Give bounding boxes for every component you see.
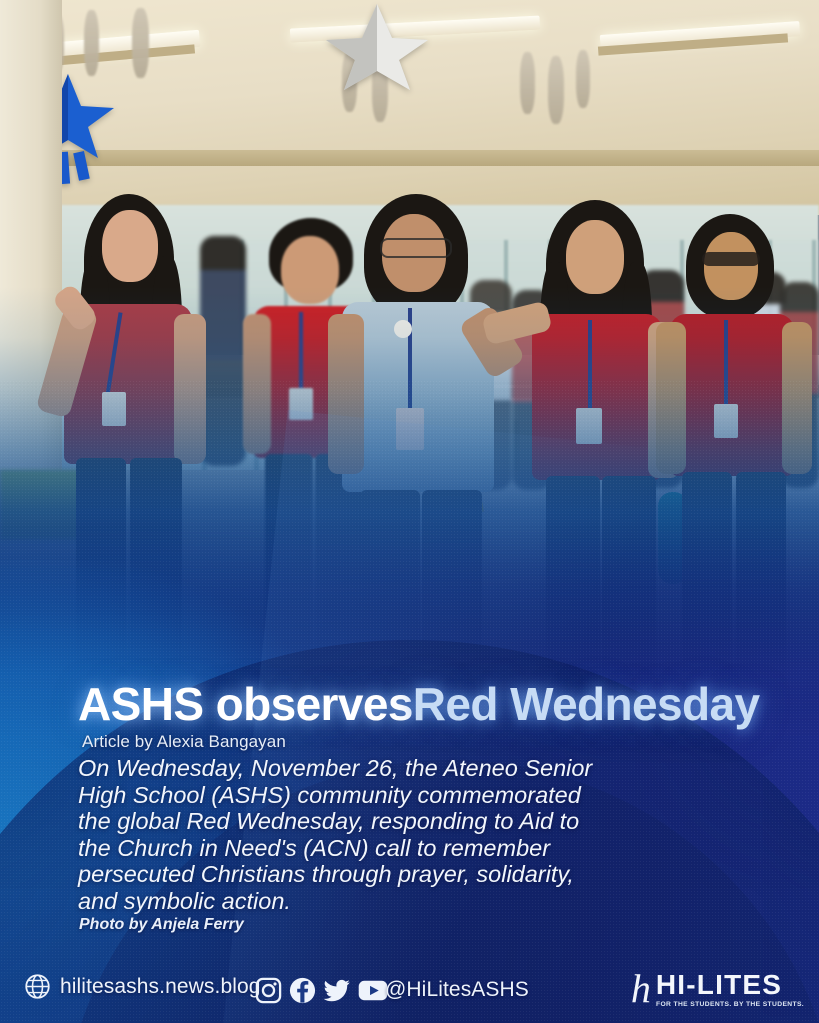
photo-credit: Photo by Anjela Ferry [79,916,244,934]
headline-part-2: Red Wednesday [413,678,760,730]
poster-card: ASHS observesRed Wednesday Article by Al… [0,0,819,1023]
body-line: persecuted Christians through prayer, so… [78,861,746,888]
logo-tagline: FOR THE STUDENTS. BY THE STUDENTS. [656,1001,804,1008]
body-line: On Wednesday, November 26, the Ateneo Se… [78,755,746,782]
globe-icon [24,973,51,1000]
social-handle: @HiLitesASHS [385,978,529,1002]
twitter-icon[interactable] [322,976,352,1005]
logo-mark: h [631,971,651,1008]
hilites-logo: h HI-LITES FOR THE STUDENTS. BY THE STUD… [631,971,801,1008]
article-body: On Wednesday, November 26, the Ateneo Se… [78,755,746,914]
page-title: ASHS observesRed Wednesday [78,681,759,727]
poster-content: ASHS observesRed Wednesday Article by Al… [0,0,819,1023]
body-line: High School (ASHS) community commemorate… [78,782,746,809]
body-line: and symbolic action. [78,888,746,915]
instagram-icon[interactable] [254,976,283,1005]
byline: Article by Alexia Bangayan [82,732,286,752]
website-link[interactable]: hilitesashs.news.blog [24,973,261,1000]
body-line: the global Red Wednesday, responding to … [78,808,746,835]
footer-bar: hilitesashs.news.blog [0,965,819,1023]
body-line: the Church in Need's (ACN) call to remem… [78,835,746,862]
facebook-icon[interactable] [288,976,317,1005]
website-text: hilitesashs.news.blog [60,975,261,999]
headline-part-1: ASHS observes [78,678,413,730]
social-icons [254,976,389,1005]
logo-name: HI-LITES [656,971,782,999]
